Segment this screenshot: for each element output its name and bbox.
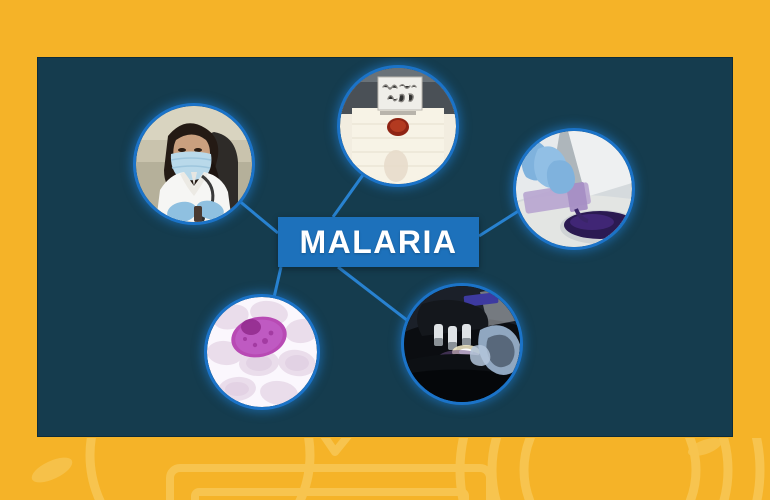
labelled-blood-slide-photo — [340, 68, 456, 184]
giemsa-staining-photo — [516, 131, 632, 247]
node-health-worker[interactable] — [133, 103, 255, 225]
microscope-photo — [404, 286, 520, 402]
central-label: MALARIA — [278, 217, 479, 267]
content-panel: MALARIA — [37, 57, 733, 437]
node-blood-smear-micrograph[interactable] — [204, 294, 320, 410]
node-giemsa-staining[interactable] — [513, 128, 635, 250]
node-microscope-examination[interactable] — [401, 283, 523, 405]
central-label-text: MALARIA — [299, 226, 457, 258]
diagram-area: MALARIA — [38, 58, 732, 436]
health-worker-photo — [136, 106, 252, 222]
node-labelled-blood-slide[interactable] — [337, 65, 459, 187]
slide-canvas: MALARIA — [0, 0, 770, 500]
blood-smear-photo — [207, 297, 317, 407]
